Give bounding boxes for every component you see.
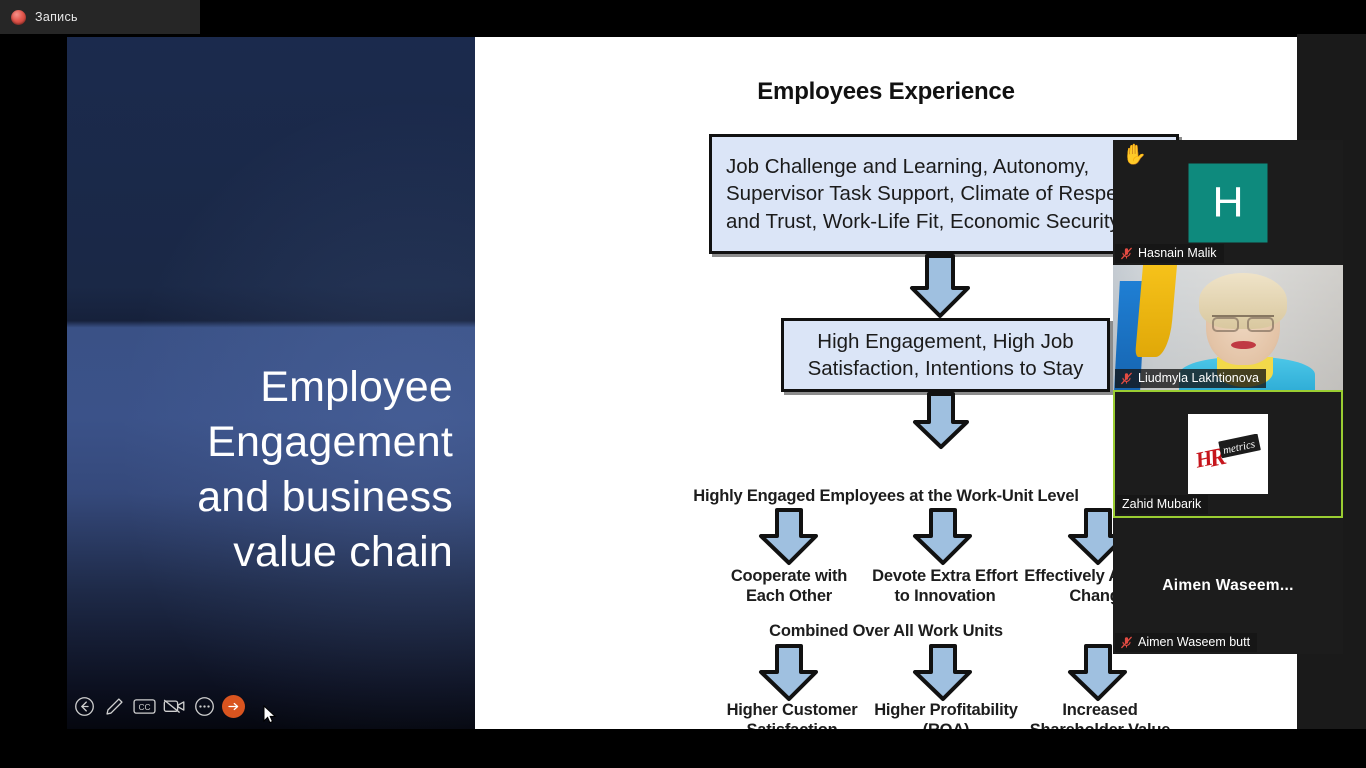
- participant-tile-hasnain-malik[interactable]: ✋ H Hasnain Malik: [1113, 140, 1343, 265]
- participant-name-chip: Aimen Waseem butt: [1115, 633, 1257, 652]
- top-black-strip: [0, 0, 1366, 34]
- slide-title-line-4: value chain: [93, 525, 453, 580]
- diagram-box-engagement-text: High Engagement, High Job Satisfaction, …: [796, 328, 1095, 383]
- participant-filmstrip: ✋ H Hasnain Malik: [1113, 140, 1343, 654]
- outcome-label-shareholder-value: Increased Shareholder Value: [1019, 700, 1181, 729]
- annotate-pencil-icon[interactable]: [102, 694, 127, 719]
- slide-title-line-3: and business: [93, 470, 453, 525]
- down-arrow-icon: [911, 392, 971, 450]
- svg-text:CC: CC: [138, 702, 150, 712]
- diagram-box-inputs-text: Job Challenge and Learning, Autonomy, Su…: [726, 153, 1162, 235]
- participant-tile-zahid-mubarik[interactable]: H R metrics Zahid Mubarik: [1113, 390, 1343, 518]
- hr-metrics-logo: H R metrics: [1188, 414, 1268, 494]
- participant-name: Liudmyla Lakhtionova: [1138, 371, 1259, 385]
- recording-indicator[interactable]: Запись: [0, 0, 200, 34]
- down-arrow-icon: [907, 254, 973, 319]
- more-options-icon[interactable]: [192, 694, 217, 719]
- slide-toolbar: CC: [72, 691, 245, 721]
- leave-icon[interactable]: [222, 695, 245, 718]
- zoom-meeting-window: Запись Employee Engagement and business …: [0, 0, 1366, 768]
- raised-hand-icon: ✋: [1122, 145, 1147, 165]
- outcome-label-innovation: Devote Extra Effort to Innovation: [863, 566, 1027, 607]
- outcome-label-customer-satisfaction: Higher Customer Satisfaction: [713, 700, 871, 729]
- mic-off-icon: [1120, 247, 1133, 260]
- participant-name: Zahid Mubarik: [1122, 497, 1201, 511]
- slide-title-line-2: Engagement: [93, 415, 453, 470]
- participant-tile-liudmyla-lakhtionova[interactable]: Liudmyla Lakhtionova: [1113, 265, 1343, 390]
- slide-left-panel: Employee Engagement and business value c…: [67, 37, 475, 729]
- mic-off-icon: [1120, 636, 1133, 649]
- participant-name-chip: Zahid Mubarik: [1117, 495, 1208, 514]
- left-black-strip: [0, 34, 67, 768]
- flag-yellow-stripe: [1135, 265, 1177, 357]
- participant-name: Hasnain Malik: [1138, 246, 1217, 260]
- down-arrow-icon: [912, 644, 974, 702]
- person-glasses: [1212, 315, 1274, 327]
- closed-captions-icon[interactable]: CC: [132, 694, 157, 719]
- diagram-box-engagement: High Engagement, High Job Satisfaction, …: [781, 318, 1110, 392]
- participant-name-chip: Hasnain Malik: [1115, 244, 1224, 263]
- diagram-title: Employees Experience: [475, 78, 1297, 106]
- participant-tile-aimen-waseem-butt[interactable]: Aimen Waseem... Aimen Waseem butt: [1113, 518, 1343, 654]
- mouse-cursor: [263, 705, 277, 725]
- down-arrow-icon: [758, 644, 820, 702]
- recording-label: Запись: [35, 10, 78, 24]
- avatar-letter: H: [1212, 181, 1243, 224]
- participant-name: Aimen Waseem butt: [1138, 635, 1250, 649]
- participant-name-chip: Liudmyla Lakhtionova: [1115, 369, 1266, 388]
- record-dot-icon: [11, 10, 26, 25]
- avatar: H: [1189, 163, 1268, 242]
- back-icon[interactable]: [72, 694, 97, 719]
- down-arrow-icon: [758, 508, 820, 566]
- diagram-box-inputs: Job Challenge and Learning, Autonomy, Su…: [709, 134, 1179, 254]
- camera-off-icon[interactable]: [162, 694, 187, 719]
- mic-off-icon: [1120, 372, 1133, 385]
- outcome-label-profitability: Higher Profitability (ROA): [867, 700, 1025, 729]
- down-arrow-icon: [912, 508, 974, 566]
- person-lips: [1231, 341, 1256, 349]
- logo-graphic: H R metrics: [1191, 434, 1265, 474]
- slide-title: Employee Engagement and business value c…: [93, 360, 453, 580]
- slide-title-line-1: Employee: [93, 360, 453, 415]
- outcome-label-cooperate: Cooperate with Each Other: [713, 566, 865, 607]
- bottom-black-strip: [0, 729, 1366, 768]
